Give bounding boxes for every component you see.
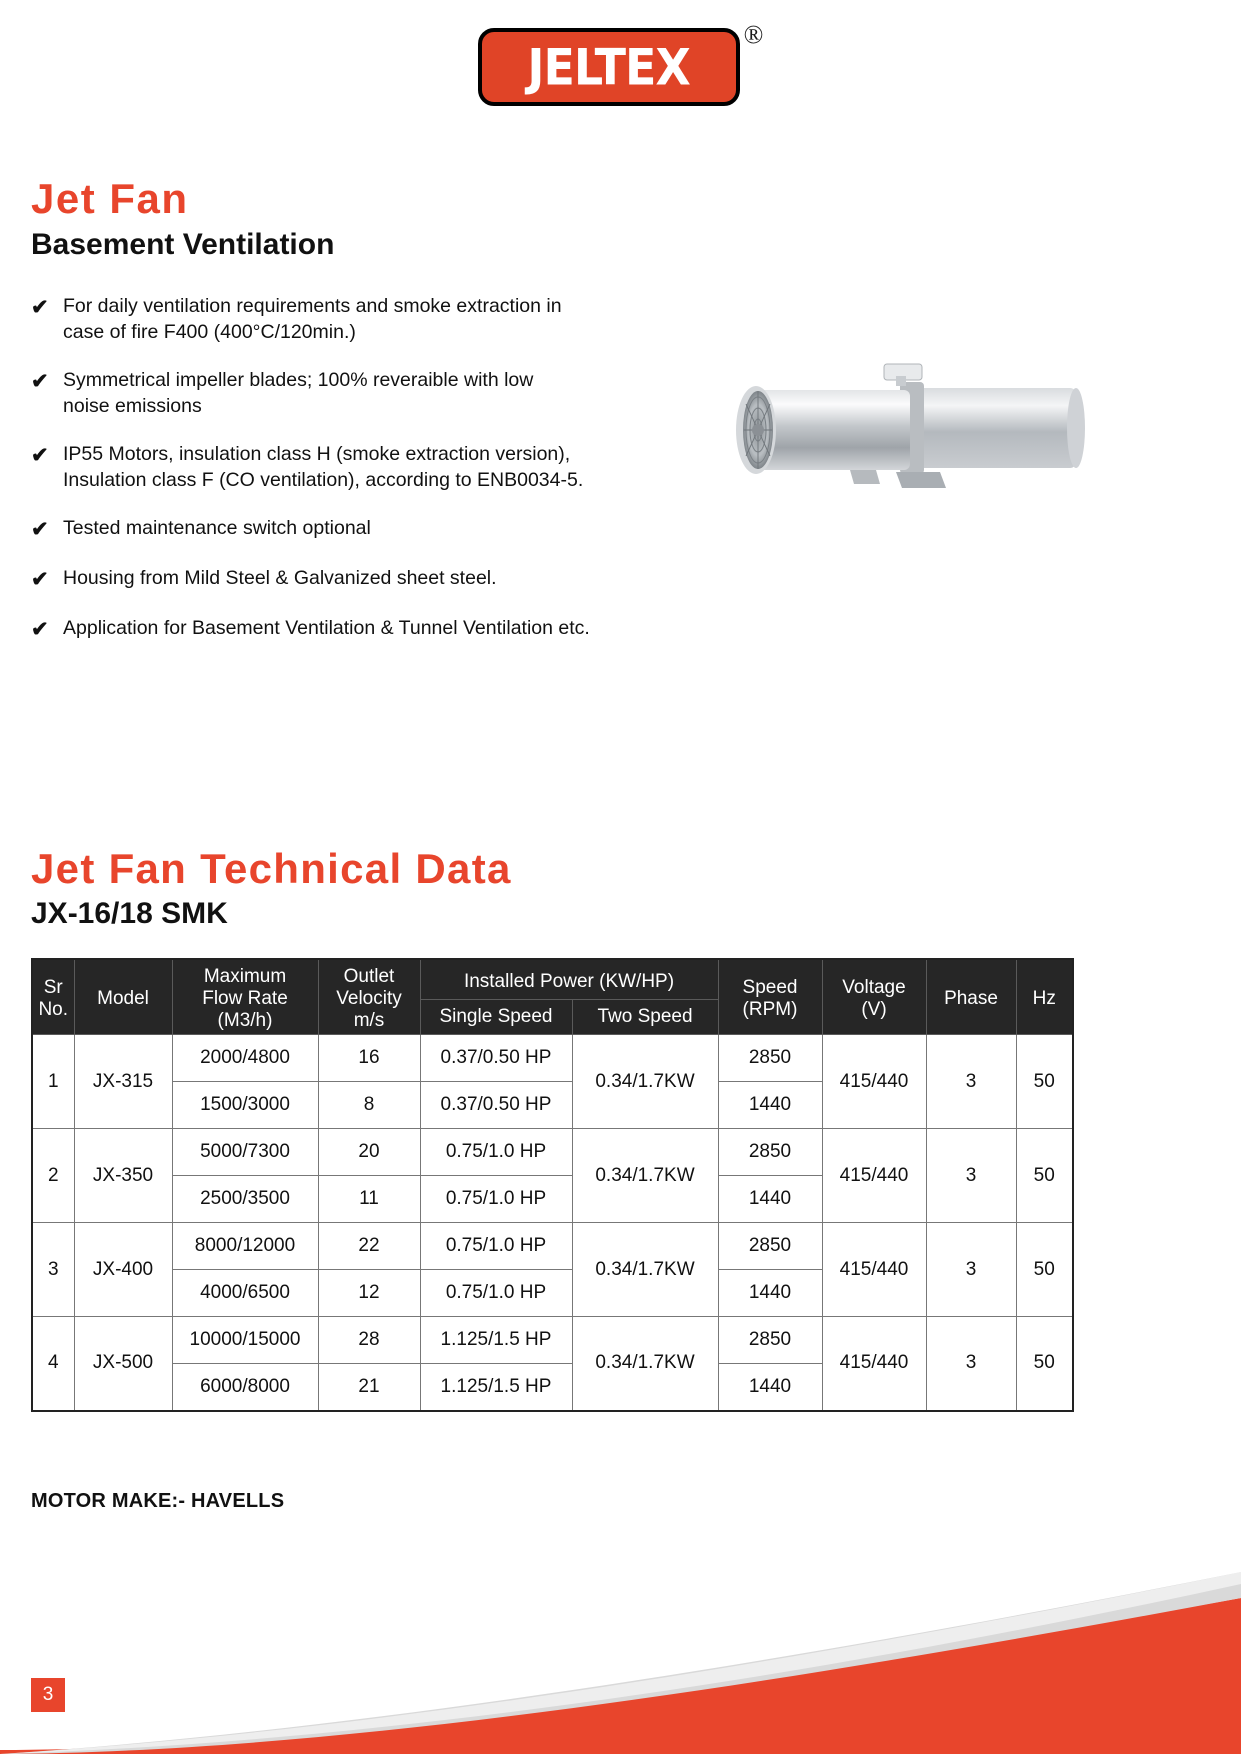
cell-voltage: 415/440 bbox=[822, 1317, 926, 1411]
col-header-model: Model bbox=[74, 959, 172, 1035]
check-icon: ✔ bbox=[31, 367, 63, 395]
check-icon: ✔ bbox=[31, 615, 63, 643]
cell-two-speed: 0.34/1.7KW bbox=[572, 1223, 718, 1317]
table-row: 3 JX-400 8000/12000 22 0.75/1.0 HP 0.34/… bbox=[32, 1223, 1073, 1270]
list-item-label: Application for Basement Ventilation & T… bbox=[63, 615, 590, 641]
col-header-flow-rate: Maximum Flow Rate (M3/h) bbox=[172, 959, 318, 1035]
list-item: ✔ Symmetrical impeller blades; 100% reve… bbox=[31, 367, 691, 419]
cell-single-speed: 1.125/1.5 HP bbox=[420, 1317, 572, 1364]
technical-data-model: JX-16/18 SMK bbox=[31, 897, 228, 931]
cell-flow-rate: 1500/3000 bbox=[172, 1082, 318, 1129]
cell-single-speed: 0.75/1.0 HP bbox=[420, 1270, 572, 1317]
feature-list: ✔ For daily ventilation requirements and… bbox=[31, 293, 691, 665]
list-item: ✔ Tested maintenance switch optional bbox=[31, 515, 691, 543]
specification-table: Sr No. Model Maximum Flow Rate (M3/h) Ou… bbox=[31, 958, 1074, 1412]
catalog-page: JELTEX ® Jet Fan Basement Ventilation ✔ … bbox=[0, 0, 1241, 1754]
motor-make-note: MOTOR MAKE:- HAVELLS bbox=[31, 1490, 284, 1513]
cell-phase: 3 bbox=[926, 1035, 1016, 1129]
cell-phase: 3 bbox=[926, 1223, 1016, 1317]
col-header-sr-no: Sr No. bbox=[32, 959, 74, 1035]
check-icon: ✔ bbox=[31, 293, 63, 321]
cell-voltage: 415/440 bbox=[822, 1223, 926, 1317]
col-header-installed-power: Installed Power (KW/HP) bbox=[420, 959, 718, 1000]
cell-single-speed: 0.75/1.0 HP bbox=[420, 1176, 572, 1223]
cell-single-speed: 1.125/1.5 HP bbox=[420, 1364, 572, 1411]
cell-single-speed: 0.75/1.0 HP bbox=[420, 1223, 572, 1270]
cell-velocity: 28 bbox=[318, 1317, 420, 1364]
cell-sr-no: 3 bbox=[32, 1223, 74, 1317]
footer-swoosh bbox=[0, 1554, 1241, 1754]
table-row: 4 JX-500 10000/15000 28 1.125/1.5 HP 0.3… bbox=[32, 1317, 1073, 1364]
page-number-badge: 3 bbox=[31, 1678, 65, 1712]
cell-two-speed: 0.34/1.7KW bbox=[572, 1317, 718, 1411]
check-icon: ✔ bbox=[31, 515, 63, 543]
cell-velocity: 16 bbox=[318, 1035, 420, 1082]
list-item: ✔ For daily ventilation requirements and… bbox=[31, 293, 691, 345]
cell-flow-rate: 6000/8000 bbox=[172, 1364, 318, 1411]
cell-hz: 50 bbox=[1016, 1223, 1073, 1317]
cell-model: JX-500 bbox=[74, 1317, 172, 1411]
table-body: 1 JX-315 2000/4800 16 0.37/0.50 HP 0.34/… bbox=[32, 1035, 1073, 1411]
list-item-label: For daily ventilation requirements and s… bbox=[63, 293, 562, 345]
brand-logo: JELTEX ® bbox=[0, 28, 1241, 106]
table-row: 1 JX-315 2000/4800 16 0.37/0.50 HP 0.34/… bbox=[32, 1035, 1073, 1082]
col-header-voltage: Voltage (V) bbox=[822, 959, 926, 1035]
cell-velocity: 21 bbox=[318, 1364, 420, 1411]
cell-single-speed: 0.37/0.50 HP bbox=[420, 1035, 572, 1082]
list-item: ✔ Application for Basement Ventilation &… bbox=[31, 615, 691, 643]
list-item-label: Tested maintenance switch optional bbox=[63, 515, 371, 541]
cell-rpm: 1440 bbox=[718, 1270, 822, 1317]
cell-model: JX-315 bbox=[74, 1035, 172, 1129]
jet-fan-product-image bbox=[700, 360, 1100, 540]
cell-sr-no: 2 bbox=[32, 1129, 74, 1223]
cell-flow-rate: 8000/12000 bbox=[172, 1223, 318, 1270]
cell-rpm: 2850 bbox=[718, 1317, 822, 1364]
list-item-label: Housing from Mild Steel & Galvanized she… bbox=[63, 565, 497, 591]
col-header-phase: Phase bbox=[926, 959, 1016, 1035]
cell-flow-rate: 4000/6500 bbox=[172, 1270, 318, 1317]
cell-rpm: 1440 bbox=[718, 1176, 822, 1223]
logo-wordmark: JELTEX bbox=[527, 42, 690, 92]
list-item: ✔ Housing from Mild Steel & Galvanized s… bbox=[31, 565, 691, 593]
col-header-two-speed: Two Speed bbox=[572, 1000, 718, 1035]
cell-phase: 3 bbox=[926, 1317, 1016, 1411]
list-item-label: IP55 Motors, insulation class H (smoke e… bbox=[63, 441, 583, 493]
cell-hz: 50 bbox=[1016, 1317, 1073, 1411]
page-title: Jet Fan bbox=[31, 175, 189, 223]
cell-velocity: 12 bbox=[318, 1270, 420, 1317]
check-icon: ✔ bbox=[31, 565, 63, 593]
cell-velocity: 20 bbox=[318, 1129, 420, 1176]
cell-phase: 3 bbox=[926, 1129, 1016, 1223]
cell-model: JX-400 bbox=[74, 1223, 172, 1317]
cell-hz: 50 bbox=[1016, 1129, 1073, 1223]
col-header-single-speed: Single Speed bbox=[420, 1000, 572, 1035]
list-item-label: Symmetrical impeller blades; 100% revera… bbox=[63, 367, 533, 419]
cell-rpm: 1440 bbox=[718, 1364, 822, 1411]
registered-trademark-icon: ® bbox=[744, 22, 764, 48]
list-item: ✔ IP55 Motors, insulation class H (smoke… bbox=[31, 441, 691, 493]
cell-two-speed: 0.34/1.7KW bbox=[572, 1129, 718, 1223]
logo-badge: JELTEX bbox=[478, 28, 740, 106]
cell-flow-rate: 2000/4800 bbox=[172, 1035, 318, 1082]
cell-rpm: 2850 bbox=[718, 1223, 822, 1270]
footer-decoration bbox=[0, 1554, 1241, 1754]
cell-sr-no: 4 bbox=[32, 1317, 74, 1411]
cell-flow-rate: 10000/15000 bbox=[172, 1317, 318, 1364]
cell-flow-rate: 2500/3500 bbox=[172, 1176, 318, 1223]
cell-single-speed: 0.75/1.0 HP bbox=[420, 1129, 572, 1176]
cell-rpm: 2850 bbox=[718, 1129, 822, 1176]
cell-velocity: 22 bbox=[318, 1223, 420, 1270]
cell-single-speed: 0.37/0.50 HP bbox=[420, 1082, 572, 1129]
cell-voltage: 415/440 bbox=[822, 1129, 926, 1223]
cell-rpm: 2850 bbox=[718, 1035, 822, 1082]
page-subtitle: Basement Ventilation bbox=[31, 228, 334, 262]
table-header: Sr No. Model Maximum Flow Rate (M3/h) Ou… bbox=[32, 959, 1073, 1035]
cell-flow-rate: 5000/7300 bbox=[172, 1129, 318, 1176]
cell-two-speed: 0.34/1.7KW bbox=[572, 1035, 718, 1129]
check-icon: ✔ bbox=[31, 441, 63, 469]
cell-model: JX-350 bbox=[74, 1129, 172, 1223]
cell-hz: 50 bbox=[1016, 1035, 1073, 1129]
cell-rpm: 1440 bbox=[718, 1082, 822, 1129]
cell-sr-no: 1 bbox=[32, 1035, 74, 1129]
col-header-speed: Speed (RPM) bbox=[718, 959, 822, 1035]
technical-data-title: Jet Fan Technical Data bbox=[31, 845, 512, 893]
cell-velocity: 8 bbox=[318, 1082, 420, 1129]
cell-voltage: 415/440 bbox=[822, 1035, 926, 1129]
cell-velocity: 11 bbox=[318, 1176, 420, 1223]
col-header-velocity: Outlet Velocity m/s bbox=[318, 959, 420, 1035]
table-row: 2 JX-350 5000/7300 20 0.75/1.0 HP 0.34/1… bbox=[32, 1129, 1073, 1176]
col-header-hz: Hz bbox=[1016, 959, 1073, 1035]
